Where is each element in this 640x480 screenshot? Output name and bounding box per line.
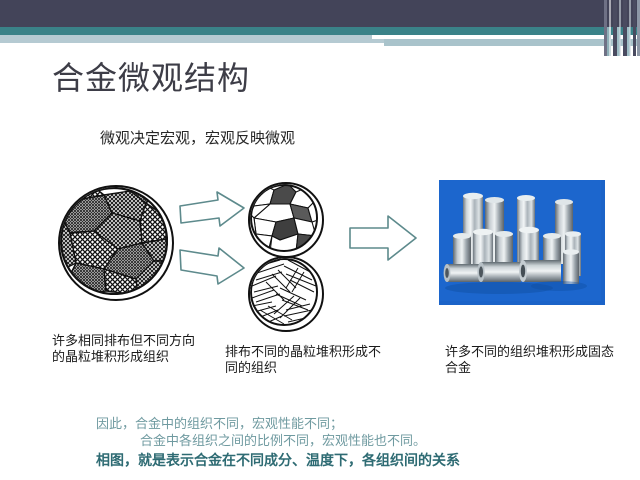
needle-lath-svg [250,258,318,326]
footer-line-2: 合金中各组织之间的比例不同，宏观性能也不同。 [140,430,426,449]
header-vstripe-2 [609,0,611,56]
arrow-right-top-icon [178,190,246,238]
arrow-right-final [348,212,418,268]
caption-right: 许多不同的组织堆积形成固态合金 [445,345,615,377]
header-vstripe-1 [604,0,607,56]
arrow-right-top [178,190,246,242]
header-step-pale [384,39,640,46]
header-decoration [0,0,640,56]
grain-micrograph-circle [58,185,174,301]
polygonal-grain-circle [248,182,324,258]
diagram-stage [0,170,640,330]
caption-left: 许多相同排布但不同方向的晶粒堆积形成组织 [52,334,202,366]
header-vstripe-7 [633,0,636,56]
grain-micrograph-svg [60,187,168,295]
subtitle: 微观决定宏观，宏观反映微观 [100,127,295,148]
caption-middle: 排布不同的晶粒堆积形成不同的组织 [225,345,390,377]
metal-tubes-photo [437,178,607,307]
metal-tubes-svg [439,180,601,301]
page-title: 合金微观结构 [52,56,472,100]
polygonal-grain-svg [250,184,318,252]
header-band-dark [0,0,640,27]
header-vstripe-5 [623,0,627,56]
arrow-right-final-icon [348,212,418,264]
needle-lath-circle [248,256,324,332]
header-vstripe-4 [619,0,621,56]
slide: 合金微观结构 微观决定宏观，宏观反映微观 [0,0,640,480]
header-vstripe-3 [613,0,617,56]
header-vstripe-6 [629,0,631,56]
arrow-right-bottom-icon [178,240,246,292]
arrow-right-bottom [178,240,246,296]
footer-line-3: 相图，就是表示合金在不同成分、温度下，各组织间的关系 [96,450,460,470]
